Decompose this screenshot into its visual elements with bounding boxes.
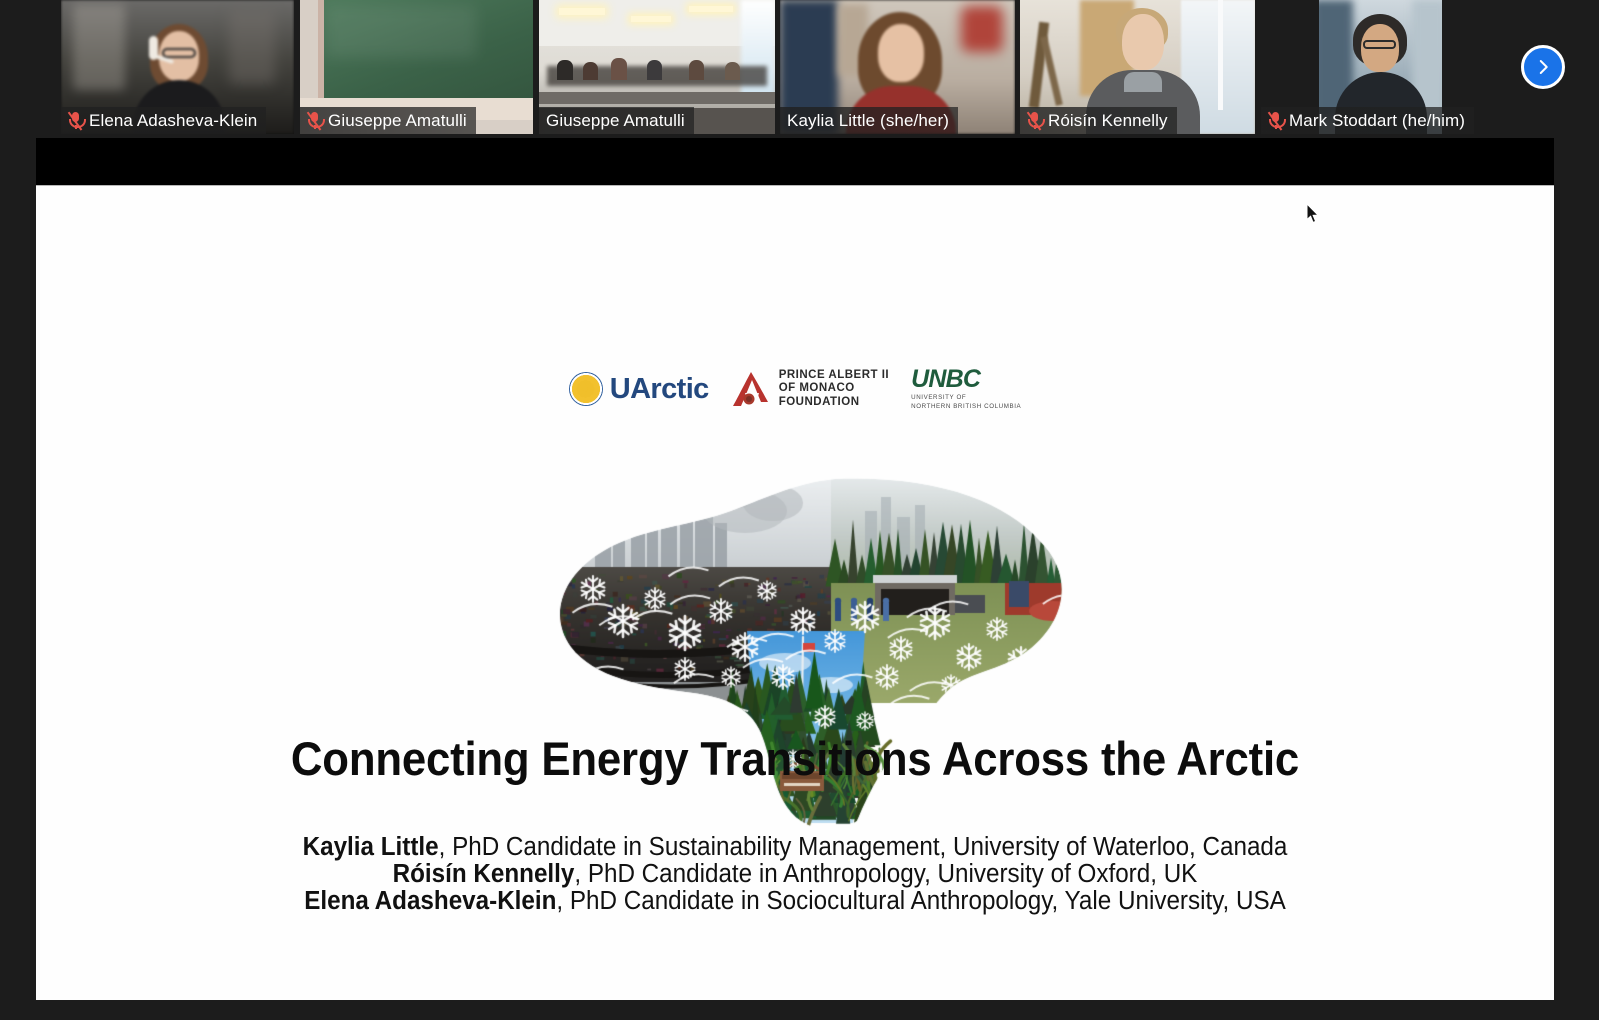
- monaco-foundation-wordmark: PRINCE ALBERT II OF MONACO FOUNDATION: [779, 369, 889, 410]
- participant-name-bar: Kaylia Little (she/her): [780, 107, 958, 134]
- uarctic-wordmark: UArctic: [610, 373, 709, 406]
- author-line: Róisín Kennelly, PhD Candidate in Anthro…: [74, 861, 1516, 888]
- presentation-slide: UArctic PRINCE ALBERT II OF MONACO: [36, 185, 1554, 1001]
- unbc-tagline: UNIVERSITY OF NORTHERN BRITISH COLUMBIA: [911, 394, 1021, 411]
- participant-tile[interactable]: Elena Adasheva-Klein: [61, 0, 294, 134]
- logo-row: UArctic PRINCE ALBERT II OF MONACO: [36, 362, 1554, 416]
- zoom-meeting-window: Elena Adasheva-Klein Giuseppe Amatulli: [0, 0, 1599, 1020]
- next-page-arrow-button[interactable]: [1521, 45, 1565, 89]
- participant-name-bar: Giuseppe Amatulli: [539, 107, 694, 134]
- author-line: Elena Adasheva-Klein, PhD Candidate in S…: [74, 888, 1516, 915]
- uarctic-mark-icon: [569, 372, 603, 406]
- participant-tile[interactable]: Kaylia Little (she/her): [780, 0, 1015, 134]
- participant-name-bar: Elena Adasheva-Klein: [61, 107, 266, 134]
- participant-tile[interactable]: Giuseppe Amatulli: [300, 0, 533, 134]
- participant-name: Elena Adasheva-Klein: [89, 111, 257, 131]
- mic-muted-icon: [1268, 111, 1283, 130]
- mic-muted-icon: [1027, 111, 1042, 130]
- participant-name: Kaylia Little (she/her): [787, 111, 949, 131]
- participant-name-bar: Mark Stoddart (he/him): [1261, 107, 1474, 134]
- participant-name: Giuseppe Amatulli: [546, 111, 685, 131]
- participant-name-bar: Róisín Kennelly: [1020, 107, 1177, 134]
- participant-name-bar: Giuseppe Amatulli: [300, 107, 476, 134]
- prince-albert-ii-monaco-foundation-logo: PRINCE ALBERT II OF MONACO FOUNDATION: [731, 369, 889, 410]
- participant-tile[interactable]: Mark Stoddart (he/him): [1261, 0, 1498, 134]
- mic-muted-icon: [307, 111, 322, 130]
- author-line: Kaylia Little, PhD Candidate in Sustaina…: [74, 834, 1516, 861]
- participant-tile[interactable]: Róisín Kennelly: [1020, 0, 1255, 134]
- mic-muted-icon: [68, 111, 83, 130]
- window-bottom-bar: [0, 1000, 1599, 1020]
- participant-tile-active-speaker[interactable]: Giuseppe Amatulli: [539, 0, 775, 134]
- unbc-wordmark: UNBC: [911, 367, 980, 392]
- unbc-logo: UNBC UNIVERSITY OF NORTHERN BRITISH COLU…: [911, 367, 1021, 411]
- chevron-right-icon: [1534, 58, 1552, 76]
- monaco-foundation-mark-icon: [731, 371, 771, 407]
- participant-name: Róisín Kennelly: [1048, 111, 1168, 131]
- participant-filmstrip: Elena Adasheva-Klein Giuseppe Amatulli: [0, 0, 1599, 134]
- participant-name: Giuseppe Amatulli: [328, 111, 467, 131]
- uarctic-logo: UArctic: [569, 372, 709, 406]
- author-list: Kaylia Little, PhD Candidate in Sustaina…: [36, 834, 1554, 915]
- shared-screen-letterbox: [36, 138, 1554, 184]
- shared-screen-region: UArctic PRINCE ALBERT II OF MONACO: [36, 138, 1554, 1000]
- participant-name: Mark Stoddart (he/him): [1289, 111, 1465, 131]
- page-title: Connecting Energy Transitions Across the…: [89, 731, 1501, 786]
